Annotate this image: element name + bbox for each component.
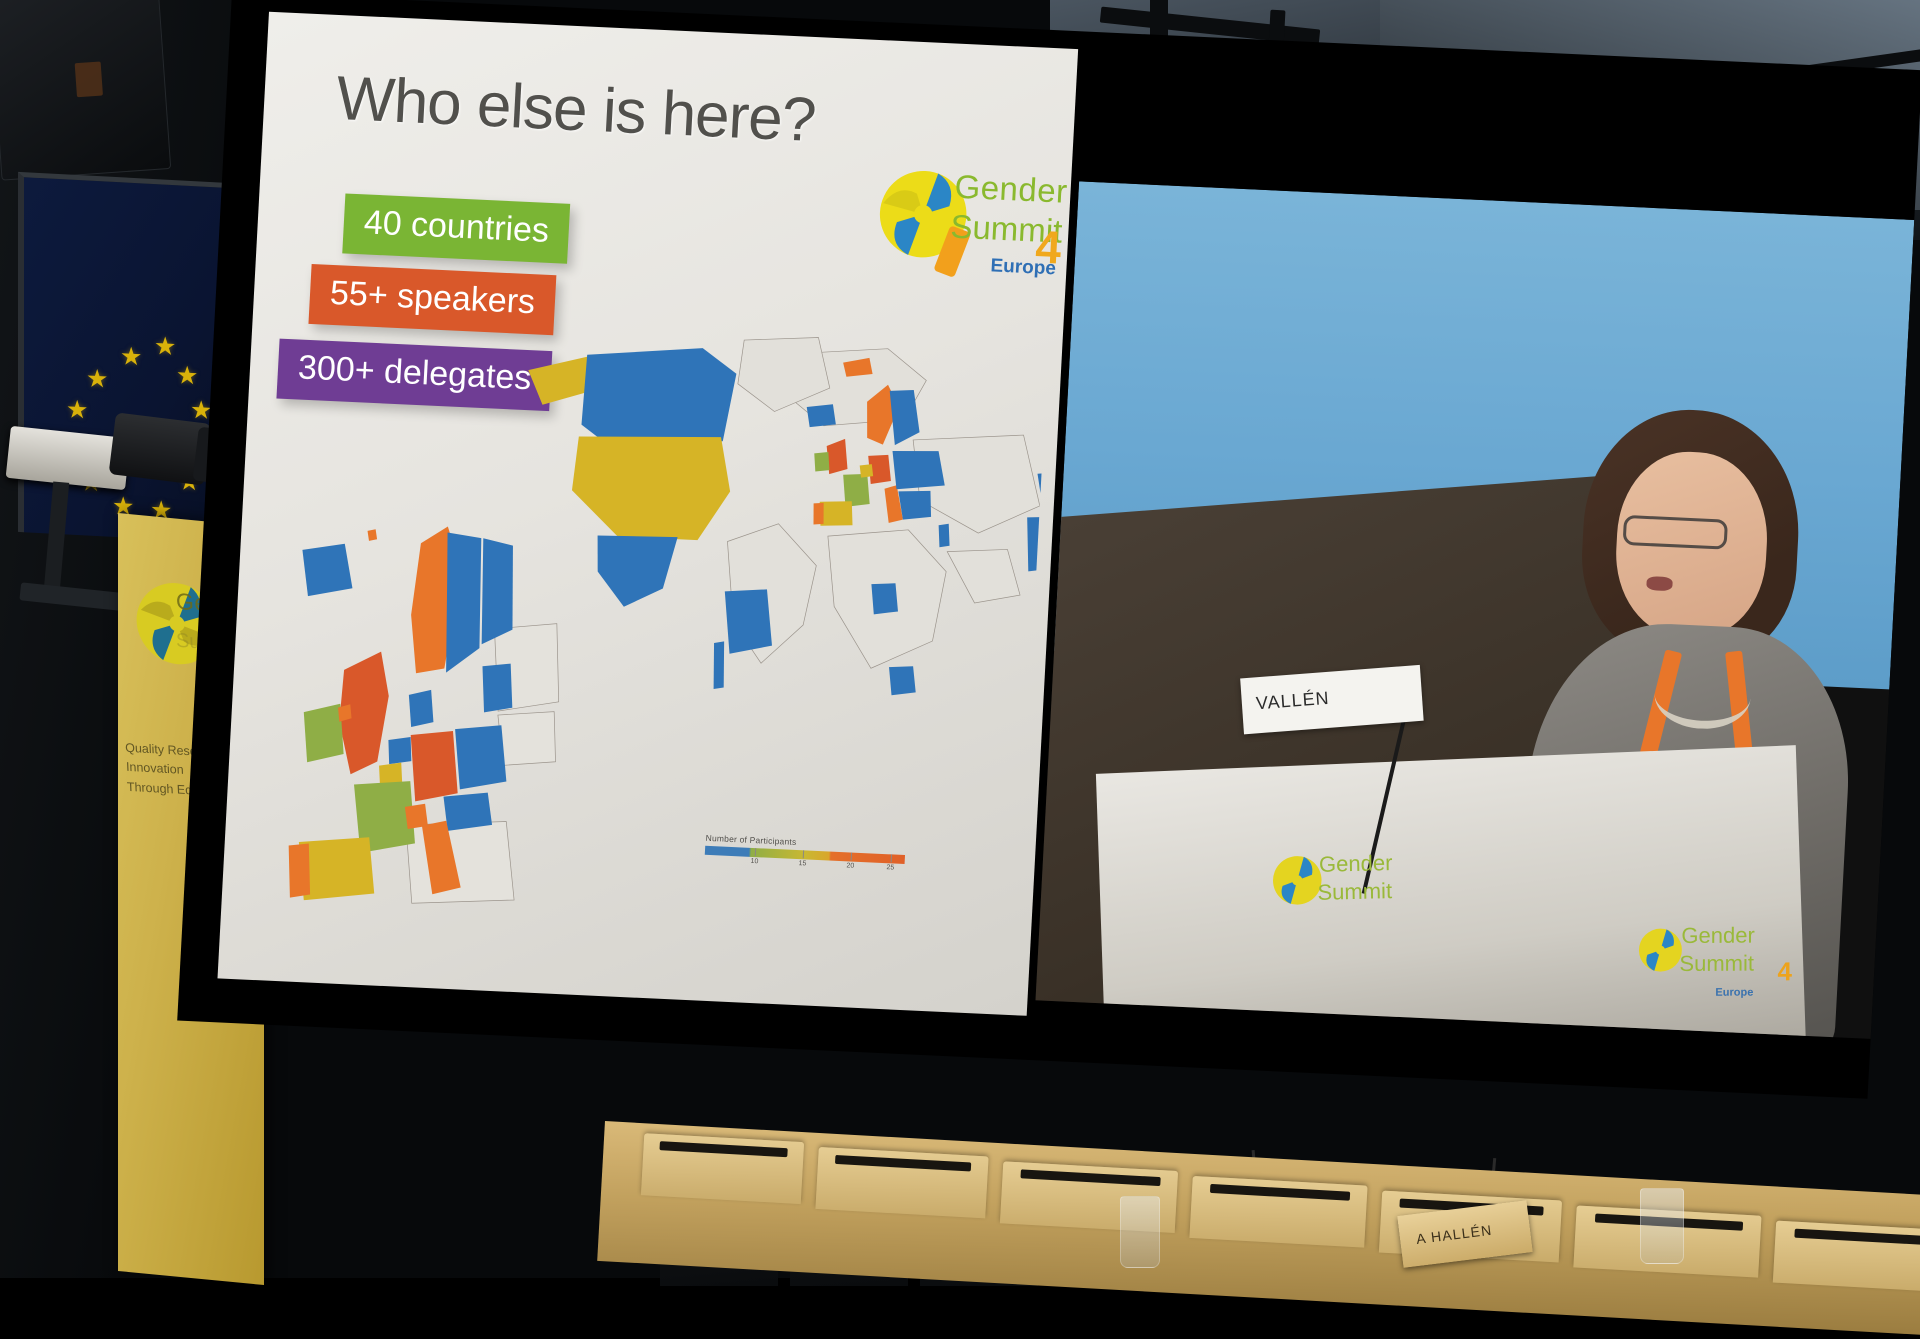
podium-logo-summit: Summit: [1679, 951, 1754, 977]
map-legend: Number of Participants 10 15 20 25: [704, 833, 916, 877]
eu-star: ★: [176, 363, 198, 389]
pa-speaker: [0, 0, 171, 181]
speaker-table: [597, 1121, 1920, 1339]
video-nameplate-text: VALLÉN: [1255, 688, 1330, 715]
speaker-mouth: [1646, 576, 1673, 591]
table-nameplate-text: A HALLÉN: [1415, 1222, 1493, 1247]
podium-logo-edition: 4: [1777, 956, 1792, 987]
slide-title: Who else is here?: [335, 63, 818, 156]
podium-logo-region: Europe: [1715, 987, 1753, 999]
legend-tick: 20: [846, 862, 854, 869]
table-placard: [1773, 1221, 1920, 1294]
table-placard: [641, 1133, 804, 1204]
presentation-slide: Who else is here? 40 countries 55+ speak…: [217, 12, 1078, 1016]
camera-lens: [109, 412, 212, 485]
legend-tick: 25: [886, 864, 894, 871]
podium-gender-summit-logo: Gender Summit: [1271, 833, 1443, 957]
eu-star: ★: [120, 344, 142, 370]
eu-star: ★: [86, 366, 108, 392]
podium-gender-summit-logo-right: Gender Summit 4 Europe: [1637, 912, 1837, 1039]
table-placard: [815, 1147, 988, 1218]
logo-region: Europe: [990, 255, 1057, 280]
legend-tick: 15: [798, 860, 806, 867]
podium-logo-gender: Gender: [1319, 850, 1393, 878]
europe-inset-choropleth-map: [252, 488, 574, 911]
live-speaker-video-feed: VALLÉN Gender Summit: [1035, 181, 1914, 1038]
eu-star: ★: [154, 334, 176, 360]
logo-line-gender: Gender: [954, 168, 1069, 211]
gender-summit-pinwheel-icon: [1637, 927, 1683, 973]
glasses-icon: [1623, 515, 1728, 550]
gender-summit-pinwheel-icon: [1271, 854, 1324, 907]
eu-star: ★: [66, 397, 88, 423]
table-placard: [1189, 1176, 1367, 1248]
legend-tick: 10: [750, 858, 758, 865]
water-glass: [1120, 1196, 1160, 1268]
projection-screen: Who else is here? 40 countries 55+ speak…: [177, 0, 1920, 1099]
water-glass: [1640, 1188, 1684, 1264]
podium-logo-gender: Gender: [1681, 923, 1754, 949]
conference-room: ★ ★ ★ ★ ★ ★ ★ ★ ★ ★ ★ ★ Gender Summit Qu…: [0, 0, 1920, 1278]
slide-gender-summit-logo: Gender Summit 4 Europe: [873, 160, 1070, 299]
stat-countries: 40 countries: [342, 193, 570, 263]
podium-logo-summit: Summit: [1317, 878, 1392, 906]
